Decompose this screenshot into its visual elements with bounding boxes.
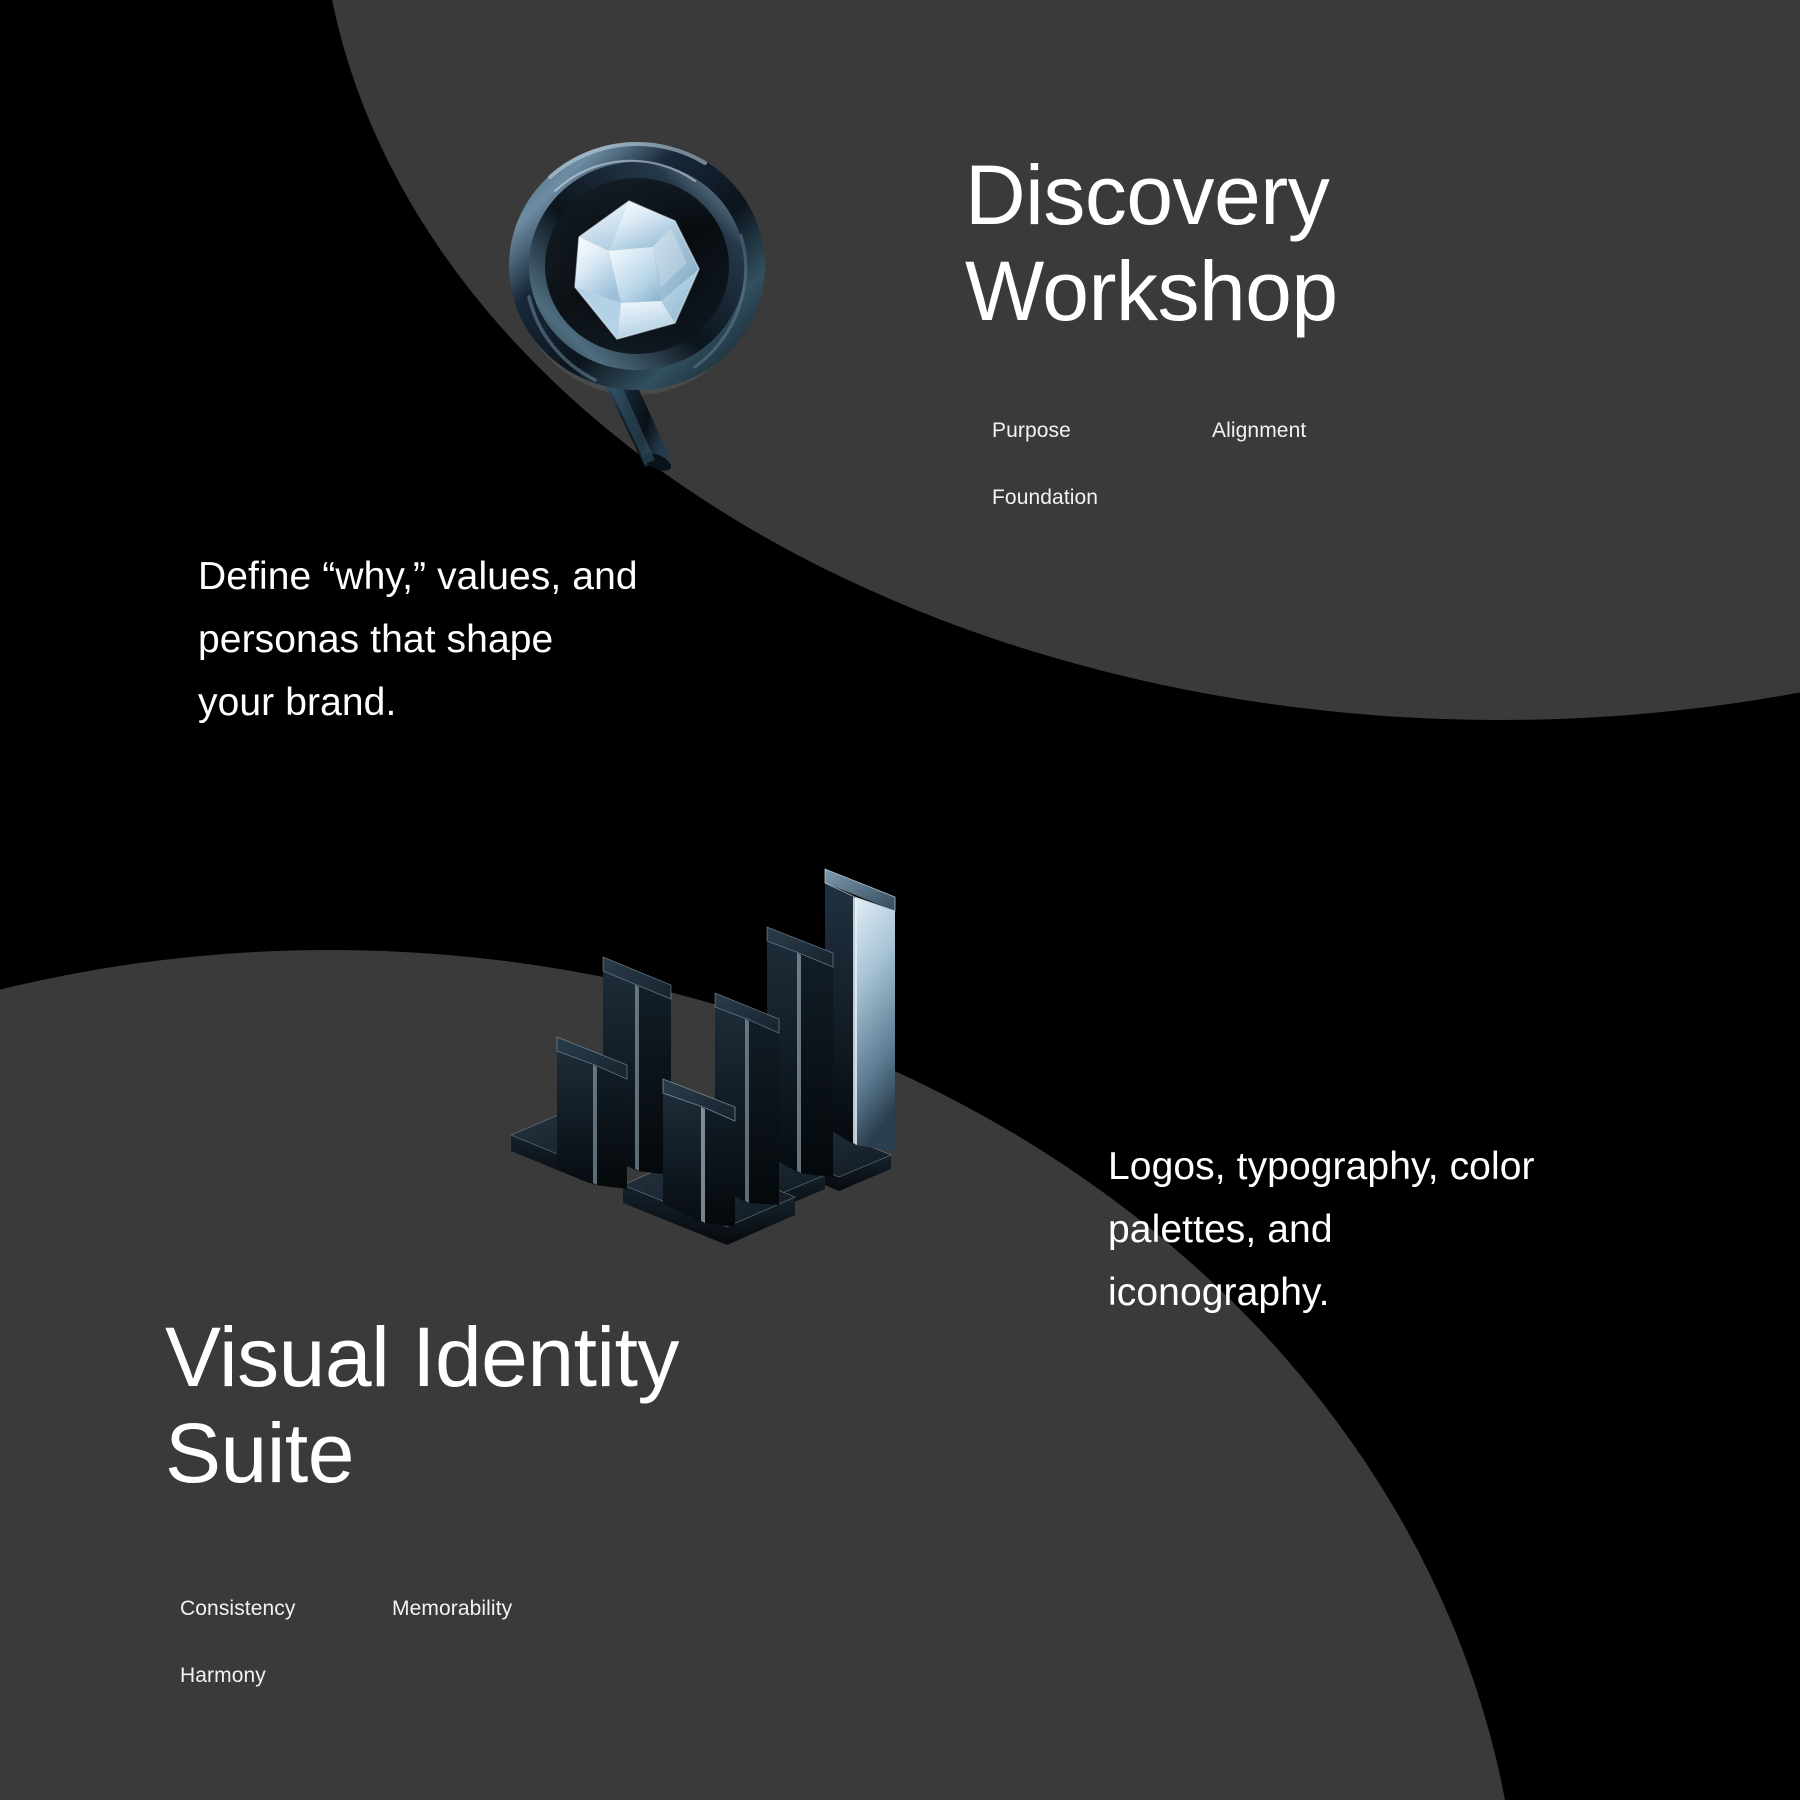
tag-harmony[interactable]: Harmony xyxy=(180,1665,392,1686)
plinth xyxy=(511,1113,641,1183)
magnifier-ring xyxy=(509,142,765,390)
plinth xyxy=(761,1123,891,1191)
plinth xyxy=(695,1143,825,1211)
tag-consistency[interactable]: Consistency xyxy=(180,1598,392,1619)
bar xyxy=(825,869,895,1151)
section-body-discovery: Define “why,” values, and personas that … xyxy=(198,545,758,735)
bar xyxy=(557,1037,627,1189)
tag-list-visual-identity: Consistency Memorability Harmony xyxy=(180,1598,610,1686)
section-title-visual-identity: Visual Identity Suite xyxy=(165,1310,865,1502)
bar xyxy=(603,957,671,1175)
magnifier-handle xyxy=(605,377,674,474)
gem-icon xyxy=(575,201,699,339)
section-title-discovery: Discovery Workshop xyxy=(965,148,1585,340)
tag-alignment[interactable]: Alignment xyxy=(1212,420,1422,441)
bar xyxy=(715,993,779,1205)
tag-purpose[interactable]: Purpose xyxy=(992,420,1212,441)
magnifier-gem-icon xyxy=(455,85,835,495)
plinth xyxy=(623,1155,795,1245)
poster-canvas: Discovery Workshop Purpose Alignment Fou… xyxy=(0,0,1800,1800)
tag-memorability[interactable]: Memorability xyxy=(392,1598,602,1619)
bar xyxy=(663,1079,735,1227)
tag-foundation[interactable]: Foundation xyxy=(992,487,1212,508)
bar xyxy=(767,927,833,1177)
bar-chart-icon xyxy=(495,855,955,1295)
section-body-visual-identity: Logos, typography, color palettes, and i… xyxy=(1108,1135,1648,1325)
tag-list-discovery: Purpose Alignment Foundation xyxy=(992,420,1422,508)
